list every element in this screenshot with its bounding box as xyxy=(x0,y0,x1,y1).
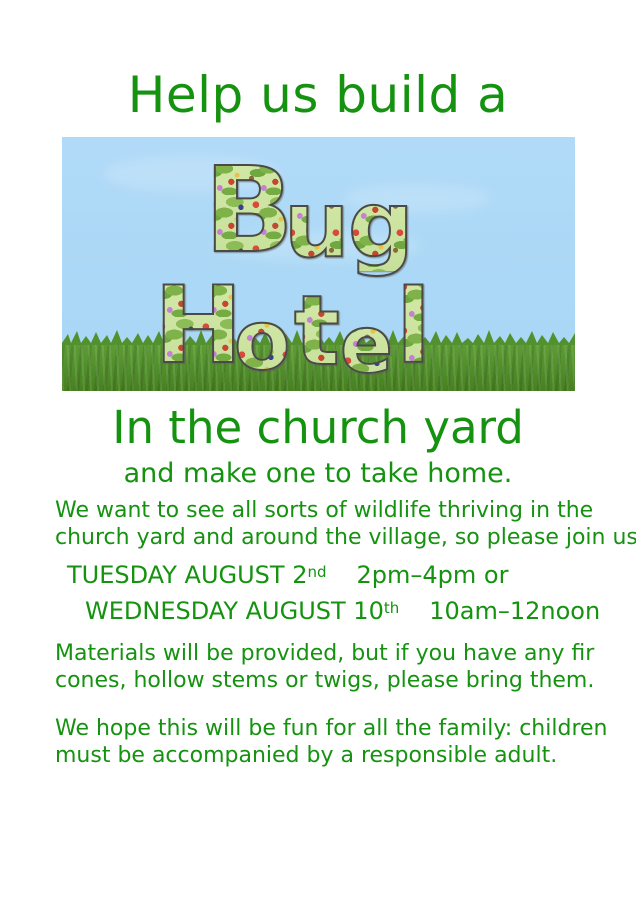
materials-line-2: cones, hollow stems or twigs, please bri… xyxy=(55,667,585,694)
event-date-ordinal: nd xyxy=(307,563,326,581)
materials-paragraph: Materials will be provided, but if you h… xyxy=(55,640,585,694)
subheading-location: In the church yard xyxy=(0,402,636,454)
wordart-letter-B: B xyxy=(204,151,294,269)
family-line-2: must be accompanied by a responsible adu… xyxy=(55,742,585,769)
wordart-letter-H: H xyxy=(154,273,243,379)
wordart-letter-u: u xyxy=(284,179,350,271)
wordart-letter-e: e xyxy=(340,307,393,385)
event-date-ordinal: th xyxy=(384,599,399,617)
event-date-row: TUESDAY AUGUST 2nd2pm–4pm or xyxy=(55,556,615,592)
poster-canvas: Help us build a B u g H o t e l In the c… xyxy=(0,0,636,899)
wordart-letter-t: t xyxy=(294,283,340,379)
family-paragraph: We hope this will be fun for all the fam… xyxy=(55,715,585,769)
bug-hotel-image: B u g H o t e l xyxy=(62,137,575,391)
event-date-row: WEDNESDAY AUGUST 10th10am–12noon xyxy=(55,592,615,628)
event-date-time: 10am–12noon xyxy=(429,597,600,625)
wordart-letter-g: g xyxy=(348,179,414,271)
bug-hotel-wordart: B u g H o t e l xyxy=(62,137,575,391)
wordart-letter-l: l xyxy=(396,277,431,379)
event-date-time: 2pm–4pm or xyxy=(357,561,509,589)
page-title: Help us build a xyxy=(0,66,636,124)
event-dates: TUESDAY AUGUST 2nd2pm–4pm or WEDNESDAY A… xyxy=(55,556,615,628)
family-line-1: We hope this will be fun for all the fam… xyxy=(55,715,585,742)
wordart-letter-o: o xyxy=(234,301,290,383)
intro-paragraph: We want to see all sorts of wildlife thr… xyxy=(55,497,585,551)
event-date-day: WEDNESDAY AUGUST 10 xyxy=(85,597,384,625)
subheading-takehome: and make one to take home. xyxy=(0,458,636,490)
event-date-day: TUESDAY AUGUST 2 xyxy=(67,561,307,589)
materials-line-1: Materials will be provided, but if you h… xyxy=(55,640,585,667)
intro-line-1: We want to see all sorts of wildlife thr… xyxy=(55,497,585,524)
intro-line-2: church yard and around the village, so p… xyxy=(55,524,585,551)
